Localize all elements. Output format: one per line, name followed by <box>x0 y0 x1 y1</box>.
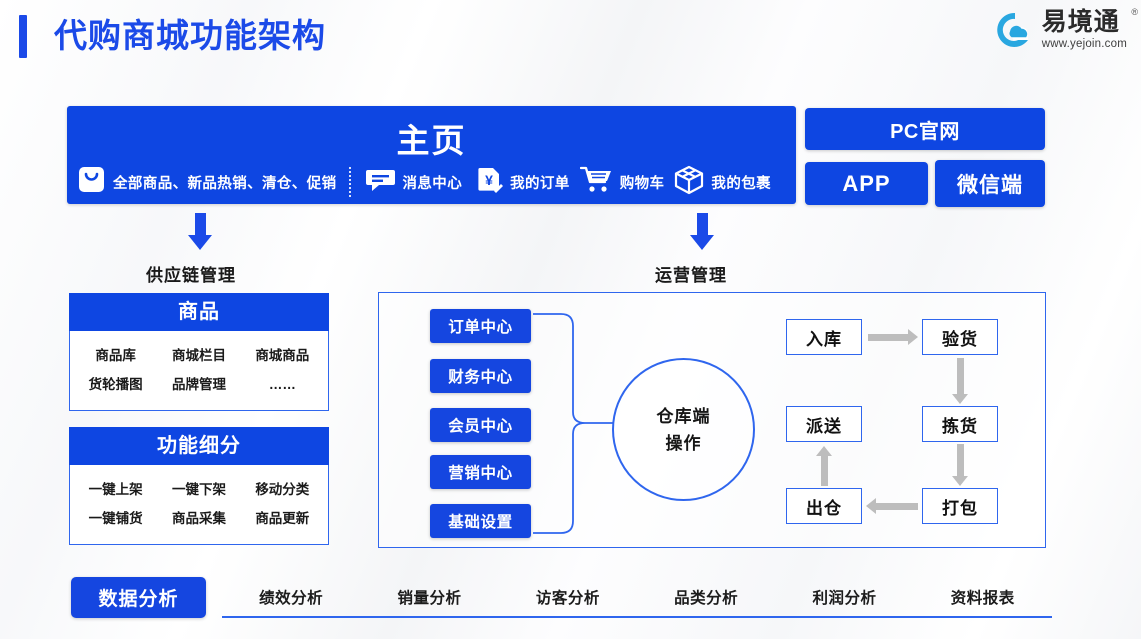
brace-connector <box>531 309 616 538</box>
panel-goods-title: 商品 <box>69 293 329 331</box>
analysis-item-profit[interactable]: 利润分析 <box>775 586 913 608</box>
warehouse-box-inspect[interactable]: 验货 <box>922 319 998 355</box>
analysis-item-sales[interactable]: 销量分析 <box>360 586 498 608</box>
brand-logo: 易境通 ® www.yejoin.com <box>995 9 1127 51</box>
panel-cell[interactable]: …… <box>241 370 324 399</box>
arrow-pack-to-outbound <box>866 501 918 511</box>
banner-nav-row: 全部商品、新品热销、清仓、促销 消息中心 ¥ 我的 <box>77 164 790 200</box>
panel-feature-breakdown: 功能细分 一键上架 一键下架 移动分类 一键铺货 商品采集 商品更新 <box>69 427 329 545</box>
brand-text: 易境通 ® www.yejoin.com <box>1042 9 1127 51</box>
panel-cell[interactable]: 商城商品 <box>241 341 324 370</box>
analysis-item-performance[interactable]: 绩效分析 <box>222 586 360 608</box>
warehouse-box-deliver[interactable]: 派送 <box>786 406 862 442</box>
brand-url: www.yejoin.com <box>1042 37 1127 51</box>
page-title: 代购商城功能架构 <box>54 14 326 58</box>
shopping-cart-icon <box>580 165 613 199</box>
nav-item-my-orders[interactable]: ¥ 我的订单 <box>476 166 570 199</box>
nav-item-shopping-cart[interactable]: 购物车 <box>580 165 665 199</box>
panel-goods-body: 商品库 商城栏目 商城商品 货轮播图 品牌管理 …… <box>69 331 329 411</box>
nav-label-all-goods: 全部商品、新品热销、清仓、促销 <box>113 172 337 193</box>
nav-divider <box>349 167 351 197</box>
panel-row: 商品库 商城栏目 商城商品 <box>74 341 324 370</box>
ops-button-marketing-center[interactable]: 营销中心 <box>430 455 531 489</box>
panel-cell[interactable]: 商品采集 <box>157 504 240 533</box>
nav-item-message-center[interactable]: 消息中心 <box>365 167 463 198</box>
nav-label-shopping-cart: 购物车 <box>620 172 665 193</box>
pc-website-button[interactable]: PC官网 <box>805 108 1045 150</box>
banner-title: 主页 <box>67 114 796 162</box>
svg-text:¥: ¥ <box>485 172 493 188</box>
analysis-item-category[interactable]: 品类分析 <box>637 586 775 608</box>
warehouse-box-inbound[interactable]: 入库 <box>786 319 862 355</box>
panel-row: 货轮播图 品牌管理 …… <box>74 370 324 399</box>
nav-item-all-goods[interactable]: 全部商品、新品热销、清仓、促销 <box>77 165 337 199</box>
section-label-supply-chain: 供应链管理 <box>146 261 236 286</box>
warehouse-box-pick[interactable]: 拣货 <box>922 406 998 442</box>
panel-feature-title: 功能细分 <box>69 427 329 465</box>
ops-button-member-center[interactable]: 会员中心 <box>430 408 531 442</box>
panel-row: 一键上架 一键下架 移动分类 <box>74 475 324 504</box>
nav-item-my-packages[interactable]: 我的包裹 <box>674 165 771 200</box>
panel-cell[interactable]: 商品更新 <box>241 504 324 533</box>
panel-feature-body: 一键上架 一键下架 移动分类 一键铺货 商品采集 商品更新 <box>69 465 329 545</box>
title-accent-bar <box>19 15 27 58</box>
panel-cell[interactable]: 一键下架 <box>157 475 240 504</box>
data-analysis-badge[interactable]: 数据分析 <box>71 577 206 618</box>
ops-button-order-center[interactable]: 订单中心 <box>430 309 531 343</box>
registered-mark: ® <box>1131 7 1138 17</box>
brand-name: 易境通 <box>1042 9 1120 35</box>
circle-line-1: 仓库端 <box>657 403 711 430</box>
warehouse-operation-circle: 仓库端 操作 <box>612 358 755 501</box>
panel-cell[interactable]: 一键上架 <box>74 475 157 504</box>
cloud-logo-icon <box>995 10 1035 50</box>
arrow-inspect-to-pick <box>955 358 965 404</box>
panel-row: 一键铺货 商品采集 商品更新 <box>74 504 324 533</box>
arrow-pick-to-pack <box>955 444 965 486</box>
panel-cell[interactable]: 移动分类 <box>241 475 324 504</box>
nav-label-my-orders: 我的订单 <box>510 172 570 193</box>
section-label-operations: 运营管理 <box>655 261 727 286</box>
message-icon <box>365 167 396 198</box>
panel-cell[interactable]: 商城栏目 <box>157 341 240 370</box>
ops-button-basic-settings[interactable]: 基础设置 <box>430 504 531 538</box>
shopping-bag-icon <box>77 165 106 199</box>
order-yuan-icon: ¥ <box>476 166 503 199</box>
ops-button-finance-center[interactable]: 财务中心 <box>430 359 531 393</box>
app-button[interactable]: APP <box>805 162 928 205</box>
home-banner: 主页 全部商品、新品热销、清仓、促销 消息中心 <box>67 106 796 204</box>
arrow-down-operations <box>690 213 714 250</box>
nav-label-my-packages: 我的包裹 <box>711 172 771 193</box>
package-box-icon <box>674 165 704 200</box>
panel-cell[interactable]: 货轮播图 <box>74 370 157 399</box>
analysis-item-report[interactable]: 资料报表 <box>914 586 1052 608</box>
page-header: 代购商城功能架构 易境通 ® www.yejoin.com <box>0 0 1141 72</box>
warehouse-box-outbound[interactable]: 出仓 <box>786 488 862 524</box>
wechat-button[interactable]: 微信端 <box>935 160 1045 207</box>
panel-cell[interactable]: 品牌管理 <box>157 370 240 399</box>
nav-label-message-center: 消息中心 <box>403 172 463 193</box>
panel-goods: 商品 商品库 商城栏目 商城商品 货轮播图 品牌管理 …… <box>69 293 329 411</box>
panel-cell[interactable]: 商品库 <box>74 341 157 370</box>
circle-line-2: 操作 <box>666 430 702 457</box>
arrow-outbound-to-deliver <box>819 446 829 486</box>
panel-cell[interactable]: 一键铺货 <box>74 504 157 533</box>
analysis-item-visitor[interactable]: 访客分析 <box>499 586 637 608</box>
arrow-inbound-to-inspect <box>868 332 918 342</box>
warehouse-box-pack[interactable]: 打包 <box>922 488 998 524</box>
data-analysis-list: 绩效分析 销量分析 访客分析 品类分析 利润分析 资料报表 <box>222 577 1052 618</box>
arrow-down-supply-chain <box>188 213 212 250</box>
